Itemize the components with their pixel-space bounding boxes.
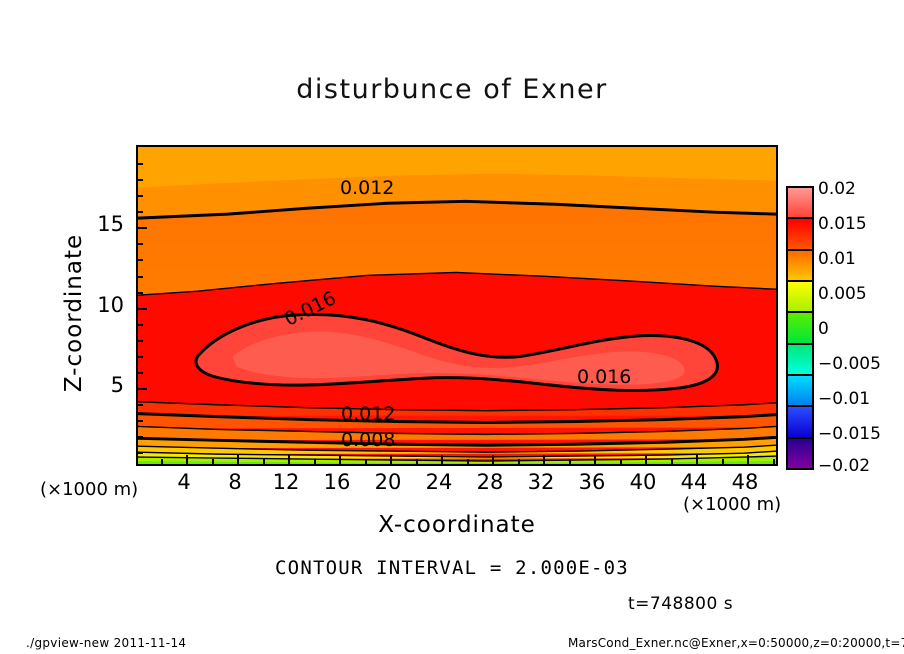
x-tick-minor [212,459,214,464]
y-tick-major [138,227,147,229]
x-tick-minor [620,459,622,464]
colorbar-band [788,345,812,376]
y-tick-major [138,308,147,310]
x-tick-major [594,455,596,464]
colorbar-tick-label: −0.01 [818,389,870,409]
y-tick-minor [138,276,143,278]
y-tick-minor [138,372,143,374]
x-tick-minor [416,459,418,464]
x-tick-minor [161,459,163,464]
x-tick-major [339,455,341,464]
y-tick-minor [138,452,143,454]
contour-interval-label: CONTOUR INTERVAL = 2.000E-03 [0,557,904,579]
y-tick-minor [138,292,143,294]
x-tick-major [747,455,749,464]
x-tick-minor [671,459,673,464]
y-tick-minor [138,163,143,165]
y-tick-minor [138,356,143,358]
x-tick-minor [263,459,265,464]
colorbar-band [788,219,812,250]
x-tick-label: 48 [715,470,775,494]
x-tick-major [237,455,239,464]
x-tick-major [441,455,443,464]
x-axis-unit-right: (×1000 m) [683,494,781,515]
page-title: disturbunce of Exner [0,74,904,105]
x-tick-major [288,455,290,464]
contour-label: 0.008 [341,429,395,451]
colorbar[interactable] [786,186,814,470]
colorbar-band [788,251,812,282]
y-tick-minor [138,404,143,406]
footer-dataset-label: MarsCond_Exner.nc@Exner,x=0:50000,z=0:20… [568,636,904,650]
x-tick-major [390,455,392,464]
colorbar-band [788,376,812,407]
contour-field [138,147,776,464]
x-tick-minor [773,459,775,464]
x-tick-minor [722,459,724,464]
y-tick-minor [138,324,143,326]
contour-label: 0.012 [341,403,395,425]
contour-label: 0.012 [340,177,394,199]
y-tick-minor [138,436,143,438]
x-tick-minor [569,459,571,464]
colorbar-tick-label: 0.005 [818,284,867,304]
x-tick-major [543,455,545,464]
colorbar-tick-label: 0.015 [818,214,867,234]
y-tick-minor [138,259,143,261]
x-tick-minor [518,459,520,464]
time-label: t=748800 s [628,594,733,614]
x-tick-minor [365,459,367,464]
x-axis-unit-left: (×1000 m) [40,479,138,500]
x-tick-major [186,455,188,464]
colorbar-band [788,439,812,468]
colorbar-tick-label: −0.005 [818,354,881,374]
colorbar-tick-label: −0.02 [818,456,870,476]
y-tick-minor [138,179,143,181]
colorbar-tick-label: 0.02 [818,179,856,199]
x-tick-major [696,455,698,464]
colorbar-tick-label: −0.015 [818,424,881,444]
colorbar-band [788,407,812,438]
colorbar-tick-label: 0.01 [818,249,856,269]
x-tick-major [645,455,647,464]
colorbar-tick-label: 0 [818,319,829,339]
y-tick-minor [138,420,143,422]
x-tick-minor [314,459,316,464]
colorbar-band [788,282,812,313]
y-tick-major [138,388,147,390]
y-tick-minor [138,243,143,245]
colorbar-band [788,188,812,219]
colorbar-band [788,313,812,344]
contour-plot-area [136,145,778,466]
y-axis-title: Z-coordinate [61,203,87,423]
footer-command-label: ./gpview-new 2011-11-14 [26,636,186,650]
x-tick-minor [467,459,469,464]
x-tick-major [492,455,494,464]
y-tick-minor [138,340,143,342]
contour-label: 0.016 [577,366,631,388]
y-tick-minor [138,195,143,197]
y-tick-minor [138,211,143,213]
x-axis-title: X-coordinate [136,512,778,538]
